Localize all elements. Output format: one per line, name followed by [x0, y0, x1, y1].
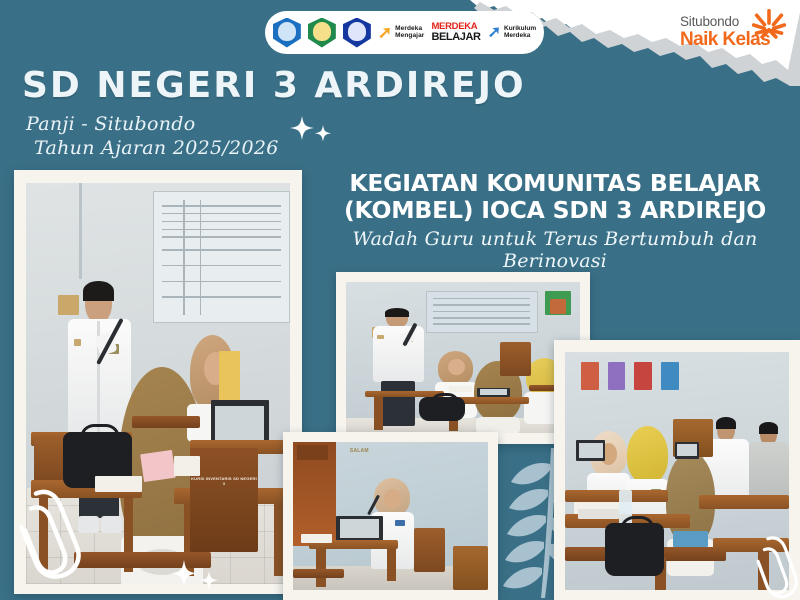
situbondo-naik-kelas-logo: Situbondo Naik Kelas	[680, 12, 788, 56]
activity-title-line2: (KOMBEL) IOCA SDN 3 ARDIREJO	[318, 197, 792, 224]
merdeka-belajar-line2: BELAJAR	[431, 32, 480, 42]
activity-title-line1: KEGIATAN KOMUNITAS BELAJAR	[318, 170, 792, 197]
school-name: SD NEGERI 3 ARDIREJO	[22, 68, 526, 104]
chair-inventory-sign: KURSI INVENTARIS SD NEGERI 3	[190, 476, 259, 486]
activity-title: KEGIATAN KOMUNITAS BELAJAR (KOMBEL) IOCA…	[318, 170, 792, 224]
merdeka-mengajar-line2: Mengajar	[395, 33, 424, 40]
school-subtitle: Panji - Situbondo Tahun Ajaran 2025/2026	[26, 112, 279, 161]
brand-line2: Naik Kelas	[680, 29, 770, 51]
kurikulum-merdeka-logo: ➚ Kurikulum Merdeka	[488, 25, 537, 41]
photo-teacher-presenting-medium	[336, 272, 590, 444]
kemendikbud-logo	[343, 18, 371, 48]
wall-sign: SALAM	[340, 448, 379, 454]
merdeka-mengajar-logo: ➚ Merdeka Mengajar	[378, 24, 425, 41]
swoosh-icon: ➚	[488, 25, 501, 41]
school-academic-year: Tahun Ajaran 2025/2026	[34, 136, 279, 160]
photo-participant-microphone: SALAM	[283, 432, 498, 600]
activity-tagline: Wadah Guru untuk Terus Bertumbuh dan Ber…	[318, 228, 792, 272]
brand-line1: Situbondo	[680, 14, 739, 29]
situbondo-regency-logo	[308, 18, 336, 48]
photo-group-discussion	[554, 340, 800, 600]
swoosh-icon: ➚	[378, 24, 392, 41]
kurikulum-merdeka-line2: Merdeka	[504, 33, 536, 40]
logo-strip: ➚ Merdeka Mengajar MERDEKA BELAJAR ➚ Kur…	[265, 11, 544, 54]
school-location: Panji - Situbondo	[26, 112, 279, 136]
sparkle-cluster-top	[286, 114, 336, 152]
photo-teacher-presenting-large: KURSI INVENTARIS SD NEGERI 3	[14, 170, 302, 594]
merdeka-belajar-logo: MERDEKA BELAJAR	[431, 23, 480, 42]
tut-wuri-handayani-logo	[273, 18, 301, 48]
